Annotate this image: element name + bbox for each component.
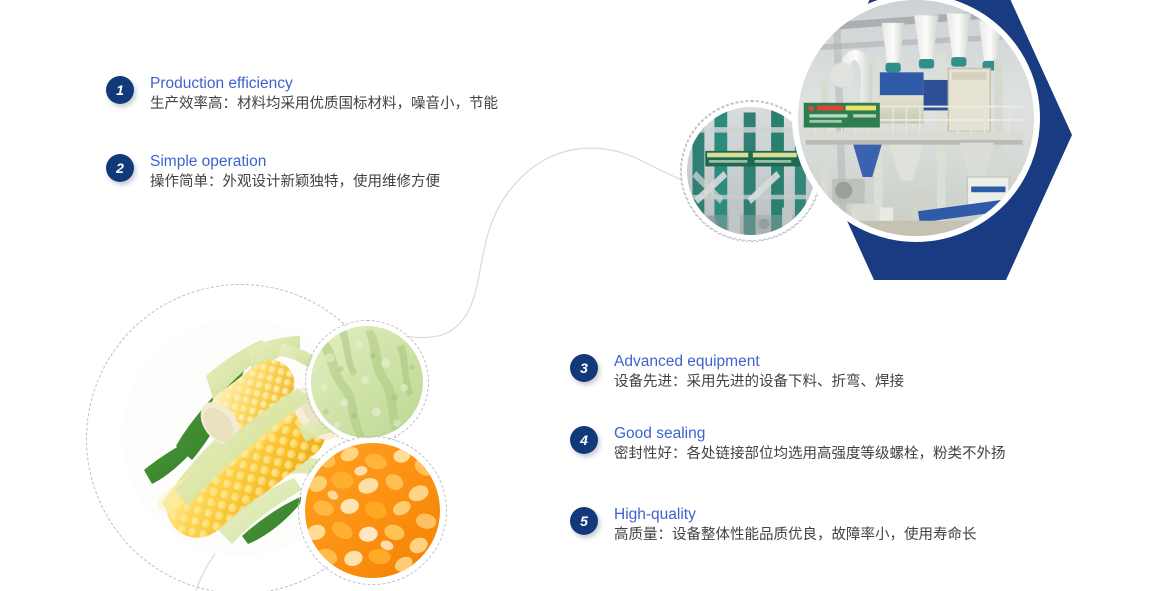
feature-heading-4: Good sealing	[614, 424, 1006, 443]
feature-item-1[interactable]: 1 Production efficiency 生产效率高：材料均采用优质国标材…	[106, 74, 498, 115]
mill-photo-group	[660, 0, 1080, 290]
feature-item-4[interactable]: 4 Good sealing 密封性好：各处链接部位均选用高强度等级螺栓，粉类不…	[570, 424, 1006, 465]
feature-text-2: Simple operation 操作简单：外观设计新颖独特，使用维修方便	[150, 152, 440, 193]
feature-text-1: Production efficiency 生产效率高：材料均采用优质国标材料，…	[150, 74, 498, 115]
feature-badge-5: 5	[570, 507, 598, 535]
feature-description-4: 密封性好：各处链接部位均选用高强度等级螺栓，粉类不外扬	[614, 444, 1006, 465]
feature-item-3[interactable]: 3 Advanced equipment 设备先进：采用先进的设备下料、折弯、焊…	[570, 352, 904, 393]
corn-photo-group	[82, 276, 502, 591]
corn-flour-paste-photo	[307, 322, 427, 442]
product-advantages-infographic: 1 Production efficiency 生产效率高：材料均采用优质国标材…	[0, 0, 1154, 591]
feature-heading-1: Production efficiency	[150, 74, 498, 93]
corn-grits-photo	[300, 438, 445, 583]
feature-text-3: Advanced equipment 设备先进：采用先进的设备下料、折弯、焊接	[614, 352, 904, 393]
feature-badge-1: 1	[106, 76, 134, 104]
feature-heading-5: High-quality	[614, 505, 977, 524]
feature-description-5: 高质量：设备整体性能品质优良，故障率小，使用寿命长	[614, 525, 977, 546]
feature-heading-3: Advanced equipment	[614, 352, 904, 371]
feature-badge-4: 4	[570, 426, 598, 454]
feature-badge-2: 2	[106, 154, 134, 182]
feature-badge-3: 3	[570, 354, 598, 382]
feature-description-1: 生产效率高：材料均采用优质国标材料，噪音小，节能	[150, 94, 498, 115]
feature-text-5: High-quality 高质量：设备整体性能品质优良，故障率小，使用寿命长	[614, 505, 977, 546]
flour-mill-plant-photo	[792, 0, 1040, 242]
feature-item-2[interactable]: 2 Simple operation 操作简单：外观设计新颖独特，使用维修方便	[106, 152, 440, 193]
feature-item-5[interactable]: 5 High-quality 高质量：设备整体性能品质优良，故障率小，使用寿命长	[570, 505, 977, 546]
feature-description-2: 操作简单：外观设计新颖独特，使用维修方便	[150, 172, 440, 193]
feature-description-3: 设备先进：采用先进的设备下料、折弯、焊接	[614, 372, 904, 393]
feature-text-4: Good sealing 密封性好：各处链接部位均选用高强度等级螺栓，粉类不外扬	[614, 424, 1006, 465]
feature-heading-2: Simple operation	[150, 152, 440, 171]
